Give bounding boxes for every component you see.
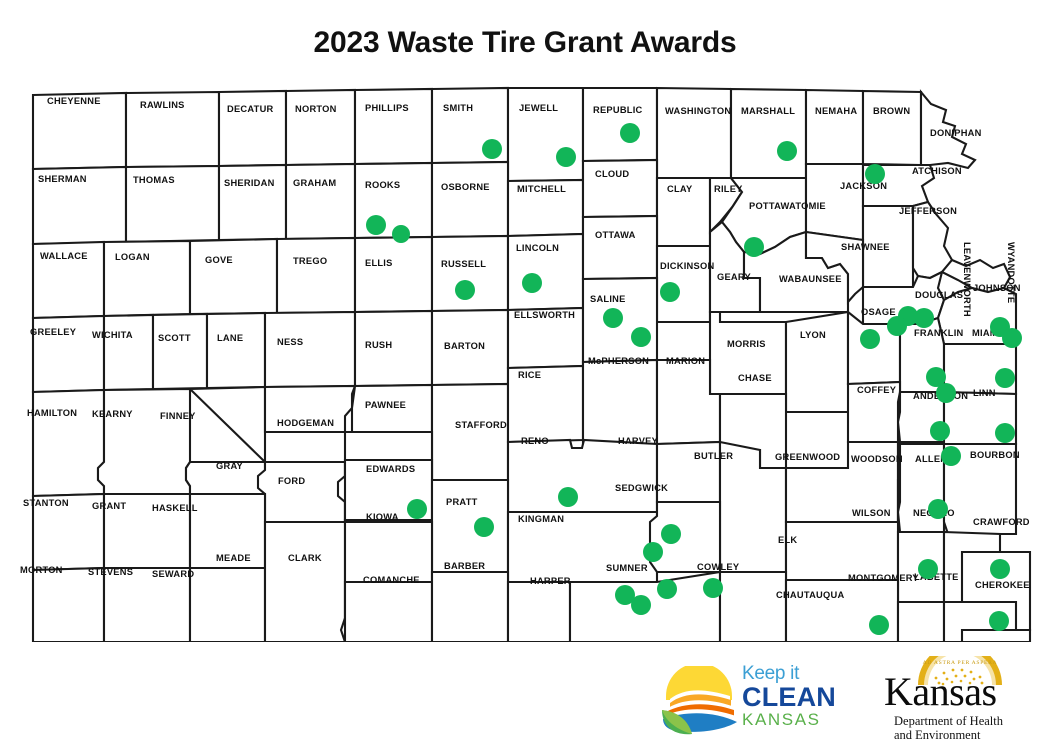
county-label-crawford: CRAWFORD [973, 517, 1030, 527]
county-label-osborne: OSBORNE [441, 182, 490, 192]
award-marker-rice-28[interactable] [558, 487, 578, 507]
county-shape-scott[interactable] [153, 314, 207, 389]
county-label-pottawatomie: POTTAWATOMIE [749, 201, 826, 211]
kansas-county-map: CHEYENNERAWLINSDECATURNORTONPHILLIPSSMIT… [0, 82, 1050, 642]
county-label-grant: GRANT [92, 501, 126, 511]
county-label-barber: BARBER [444, 561, 485, 571]
county-label-sheridan: SHERIDAN [224, 178, 275, 188]
county-label-kingman: KINGMAN [518, 514, 564, 524]
county-label-lyon: LYON [800, 330, 826, 340]
county-shape-marshall[interactable] [731, 89, 806, 178]
county-label-marshall: MARSHALL [741, 106, 795, 116]
kic-kansas-text: KANSAS [742, 711, 834, 729]
county-shape-mcpherson[interactable] [583, 360, 657, 446]
county-shape-decatur[interactable] [219, 91, 286, 166]
county-label-wilson: WILSON [852, 508, 891, 518]
county-label-stevens: STEVENS [88, 567, 133, 577]
award-marker-saline-13[interactable] [603, 308, 623, 328]
county-shape-barber[interactable] [432, 572, 508, 642]
kdhe-dept-line1: Department of Health [894, 714, 1034, 728]
county-shape-washington[interactable] [657, 88, 731, 178]
award-marker-butler-34[interactable] [703, 578, 723, 598]
county-label-phillips: PHILLIPS [365, 103, 409, 113]
county-label-geary: GEARY [717, 272, 752, 282]
county-label-wyandotte: WYANDOTTE [1006, 242, 1016, 303]
county-label-logan: LOGAN [115, 252, 150, 262]
county-label-rice: RICE [518, 370, 541, 380]
county-label-barton: BARTON [444, 341, 485, 351]
county-label-ottawa: OTTAWA [595, 230, 636, 240]
county-shape-sheridan[interactable] [219, 165, 286, 240]
award-marker-harvey-30[interactable] [643, 542, 663, 562]
county-label-haskell: HASKELL [152, 503, 198, 513]
county-label-decatur: DECATUR [227, 104, 274, 114]
kdhe-kansas-wordmark: Kansas [884, 670, 1034, 714]
county-label-woodson: WOODSON [851, 454, 903, 464]
county-label-mitchell: MITCHELL [517, 184, 566, 194]
award-marker-saline-14[interactable] [631, 327, 651, 347]
county-label-cloud: CLOUD [595, 169, 629, 179]
county-label-russell: RUSSELL [441, 259, 486, 269]
county-label-riley: RILEY [714, 184, 743, 194]
county-shape-reno[interactable] [508, 440, 657, 512]
county-label-stafford: STAFFORD [455, 420, 507, 430]
county-label-greenwood: GREENWOOD [775, 452, 840, 462]
keep-it-clean-wordmark: Keep it CLEAN KANSAS [742, 664, 834, 738]
county-label-saline: SALINE [590, 294, 626, 304]
county-shape-pratt[interactable] [432, 480, 508, 572]
award-marker-wyandotte-20[interactable] [1002, 328, 1022, 348]
county-shape-marion[interactable] [657, 360, 720, 444]
county-shape-ottawa[interactable] [583, 216, 657, 279]
award-marker-johnson-21[interactable] [995, 368, 1015, 388]
county-label-shawnee: SHAWNEE [841, 242, 890, 252]
county-shape-norton[interactable] [286, 90, 355, 165]
county-label-morton: MORTON [20, 565, 63, 575]
award-marker-marshall-3[interactable] [777, 141, 797, 161]
county-shape-graham[interactable] [286, 164, 355, 239]
county-shape-kearny[interactable] [98, 389, 190, 494]
county-label-wabaunsee: WABAUNSEE [779, 274, 842, 284]
county-label-linn: LINN [973, 388, 996, 398]
award-marker-jefferson-8[interactable] [914, 308, 934, 328]
sun-wave-leaf-icon [660, 666, 738, 736]
award-marker-dickinson-12[interactable] [660, 282, 680, 302]
county-label-clay: CLAY [667, 184, 693, 194]
county-shape-finney[interactable] [186, 387, 265, 494]
county-label-morris: MORRIS [727, 339, 766, 349]
county-label-marion: MARION [666, 356, 705, 366]
county-label-doniphan: DONIPHAN [930, 128, 982, 138]
county-label-ellsworth: ELLSWORTH [514, 310, 575, 320]
county-label-smith: SMITH [443, 103, 473, 113]
county-label-scott: SCOTT [158, 333, 191, 343]
kdhe-dept-line2: and Environment [894, 728, 1034, 742]
county-label-hodgeman: HODGEMAN [277, 418, 334, 428]
county-label-franklin: FRANKLIN [914, 328, 964, 338]
county-label-meade: MEADE [216, 553, 251, 563]
county-label-edwards: EDWARDS [366, 464, 415, 474]
county-label-nemaha: NEMAHA [815, 106, 857, 116]
county-shape-elk[interactable] [786, 522, 898, 580]
kdhe-logo: AD ASTRA PER ASPERA Kansas Department of… [884, 656, 1034, 742]
county-label-jewell: JEWELL [519, 103, 558, 113]
county-label-harvey: HARVEY [618, 436, 659, 446]
county-label-kiowa: KIOWA [366, 512, 399, 522]
county-label-sumner: SUMNER [606, 563, 648, 573]
county-label-douglas: DOUGLAS [915, 290, 963, 300]
county-label-bourbon: BOURBON [970, 450, 1020, 460]
county-label-leavenworth: LEAVENWORTH [962, 242, 972, 317]
award-marker-anderson-25[interactable] [928, 499, 948, 519]
county-label-kearny: KEARNY [92, 409, 133, 419]
award-marker-crawford-38[interactable] [989, 611, 1009, 631]
county-label-finney: FINNEY [160, 411, 196, 421]
county-label-thomas: THOMAS [133, 175, 175, 185]
county-label-osage: OSAGE [861, 307, 896, 317]
footer-logos: Keep it CLEAN KANSAS AD ASTRA PER ASPERA… [0, 650, 1050, 750]
county-shape-harper[interactable] [508, 582, 570, 642]
county-label-chase: CHASE [738, 373, 772, 383]
county-label-atchison: ATCHISON [912, 166, 962, 176]
county-label-stanton: STANTON [23, 498, 69, 508]
county-shape-wichita[interactable] [104, 315, 153, 390]
county-label-montgomery: MONTGOMERY [848, 573, 919, 583]
kdhe-department-text: Department of Health and Environment [894, 714, 1034, 742]
award-marker-allen-35[interactable] [918, 559, 938, 579]
county-shape-cherokee[interactable] [962, 630, 1030, 642]
page-title: 2023 Waste Tire Grant Awards [0, 26, 1050, 60]
award-marker-jackson-4[interactable] [865, 164, 885, 184]
county-shape-stafford[interactable] [432, 384, 508, 480]
award-marker-franklin-22[interactable] [930, 421, 950, 441]
award-marker-republic-2[interactable] [620, 123, 640, 143]
county-shape-ellis[interactable] [355, 237, 432, 312]
county-label-chautauqua: CHAUTAUQUA [776, 590, 844, 600]
award-marker-lincoln-10[interactable] [522, 273, 542, 293]
county-shape-brown[interactable] [863, 91, 921, 165]
county-label-cheyenne: CHEYENNE [47, 96, 101, 106]
award-marker-harvey-29[interactable] [661, 524, 681, 544]
county-label-hamilton: HAMILTON [27, 408, 77, 418]
award-marker-pottawatomie-11[interactable] [744, 237, 764, 257]
kic-keepit-text: Keep it [742, 664, 834, 684]
award-marker-wilson-37[interactable] [869, 615, 889, 635]
county-label-coffey: COFFEY [857, 385, 897, 395]
county-label-johnson: JOHNSON [973, 283, 1021, 293]
county-shape-russell[interactable] [432, 236, 508, 311]
county-label-cowley: COWLEY [697, 562, 740, 572]
county-shape-republic[interactable] [583, 88, 657, 161]
county-label-butler: BUTLER [694, 451, 733, 461]
county-label-rush: RUSH [365, 340, 392, 350]
county-label-pratt: PRATT [446, 497, 478, 507]
county-label-greeley: GREELEY [30, 327, 77, 337]
county-label-elk: ELK [778, 535, 797, 545]
county-label-brown: BROWN [873, 106, 910, 116]
county-shape-osborne[interactable] [432, 162, 508, 237]
county-label-rawlins: RAWLINS [140, 100, 185, 110]
county-shape-gray[interactable] [258, 462, 345, 522]
county-shape-meade[interactable] [265, 522, 345, 642]
county-shape-lane[interactable] [207, 313, 265, 388]
county-label-lincoln: LINCOLN [516, 243, 559, 253]
county-label-jefferson: JEFFERSON [899, 206, 957, 216]
county-shape-hamilton[interactable] [33, 390, 104, 496]
county-label-comanche: COMANCHE [363, 575, 420, 585]
kdhe-motto-text: AD ASTRA PER ASPERA [923, 660, 998, 666]
county-label-clark: CLARK [288, 553, 322, 563]
county-label-rooks: ROOKS [365, 180, 400, 190]
county-label-ford: FORD [278, 476, 305, 486]
county-label-lane: LANE [217, 333, 243, 343]
county-shape-gove[interactable] [190, 239, 277, 314]
kansas-map-svg: CHEYENNERAWLINSDECATURNORTONPHILLIPSSMIT… [0, 82, 1050, 642]
award-marker-douglas-18[interactable] [936, 383, 956, 403]
county-shape-comanche[interactable] [345, 582, 432, 642]
keep-it-clean-kansas-logo: Keep it CLEAN KANSAS [660, 662, 832, 738]
county-shape-seward[interactable] [190, 568, 265, 642]
award-marker-stafford-27[interactable] [474, 517, 494, 537]
award-marker-jewell-1[interactable] [556, 147, 576, 167]
award-marker-rooks-6[interactable] [392, 225, 410, 243]
county-shape-cowley[interactable] [720, 572, 786, 642]
county-label-gray: GRAY [216, 461, 244, 471]
county-label-wallace: WALLACE [40, 251, 88, 261]
county-label-seward: SEWARD [152, 569, 194, 579]
county-label-republic: REPUBLIC [593, 105, 643, 115]
county-label-wichita: WICHITA [92, 330, 133, 340]
county-label-pawnee: PAWNEE [365, 400, 406, 410]
kic-clean-text: CLEAN [742, 684, 834, 711]
county-label-trego: TREGO [293, 256, 327, 266]
county-label-ness: NESS [277, 337, 303, 347]
award-marker-franklin-23[interactable] [941, 446, 961, 466]
award-marker-russell-9[interactable] [455, 280, 475, 300]
county-shape-morton[interactable] [33, 568, 104, 642]
award-marker-miami-24[interactable] [995, 423, 1015, 443]
county-label-sherman: SHERMAN [38, 174, 87, 184]
county-shape-trego[interactable] [277, 238, 355, 313]
county-label-mcpherson: McPHERSON [588, 356, 649, 366]
county-label-graham: GRAHAM [293, 178, 336, 188]
award-marker-rooks-5[interactable] [366, 215, 386, 235]
award-marker-smith-0[interactable] [482, 139, 502, 159]
county-label-reno: RENO [521, 436, 549, 446]
county-label-harper: HARPER [530, 576, 571, 586]
county-label-norton: NORTON [295, 104, 337, 114]
county-label-gove: GOVE [205, 255, 233, 265]
county-label-cherokee: CHEROKEE [975, 580, 1030, 590]
award-marker-pawnee-26[interactable] [407, 499, 427, 519]
award-marker-osage-15[interactable] [860, 329, 880, 349]
award-marker-sedgwick-33[interactable] [657, 579, 677, 599]
county-shape-ness[interactable] [265, 312, 355, 387]
award-marker-sedgwick-32[interactable] [631, 595, 651, 615]
county-shape-phillips[interactable] [355, 89, 432, 164]
county-shape-jewell[interactable] [508, 88, 583, 181]
county-shape-montgomery[interactable] [898, 602, 944, 642]
county-label-ellis: ELLIS [365, 258, 393, 268]
county-label-sedgwick: SEDGWICK [615, 483, 668, 493]
county-shape-nemaha[interactable] [806, 90, 863, 164]
county-label-dickinson: DICKINSON [660, 261, 714, 271]
county-shape-stevens[interactable] [104, 568, 190, 642]
award-marker-bourbon-36[interactable] [990, 559, 1010, 579]
county-label-washington: WASHINGTON [665, 106, 731, 116]
award-marker-osage-16[interactable] [887, 316, 907, 336]
